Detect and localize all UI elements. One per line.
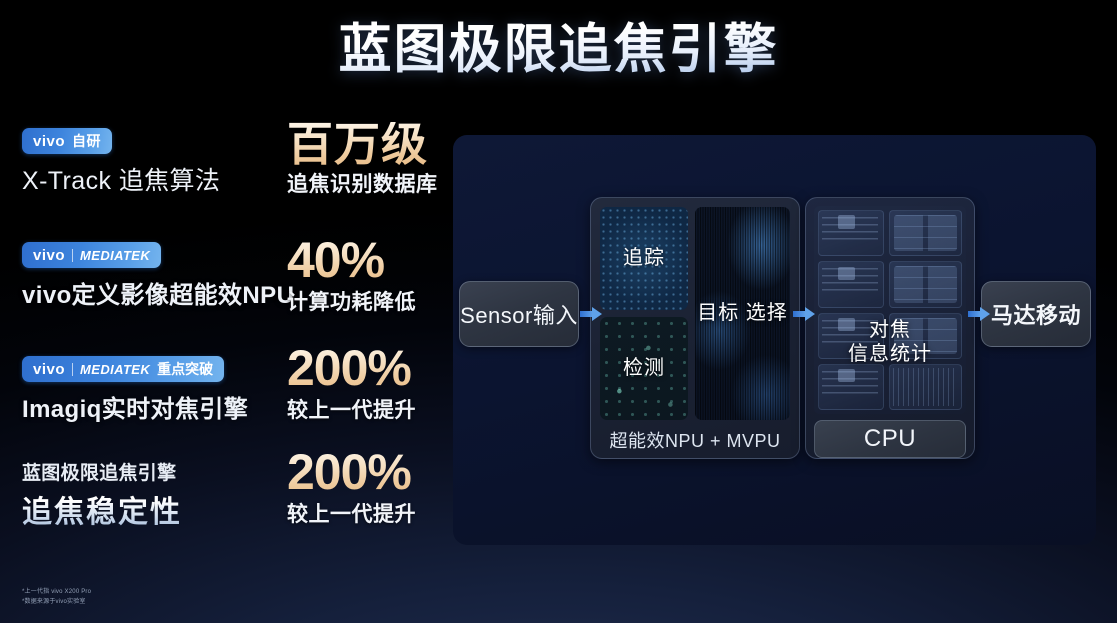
badge-vivo-mediatek-breakthrough: vivo MEDIATEK 重点突破 [22, 356, 224, 382]
stat-item-stability-gain: 200% 较上一代提升 [287, 448, 447, 528]
mediatek-wordmark: MEDIATEK [80, 362, 150, 377]
badge-separator-icon [72, 249, 73, 262]
arrow-head [805, 307, 815, 321]
stat-caption: 追焦识别数据库 [287, 168, 447, 198]
chip-block-npu: 追踪 检测 目标 选择 超能效NPU + MVPU [590, 197, 800, 459]
badge-vivo-mediatek: vivo MEDIATEK [22, 242, 161, 268]
die-bank [818, 261, 884, 307]
badge-separator-icon [72, 363, 73, 376]
feature-title: X-Track 追焦算法 [22, 161, 284, 197]
die-column-right [889, 210, 962, 410]
feature-item-npu: vivo MEDIATEK vivo定义影像超能效NPU [22, 242, 284, 310]
stat-item-power: 40% 计算功耗降低 [287, 236, 447, 316]
mediatek-wordmark: MEDIATEK [80, 248, 150, 263]
npu-tile-grid: 追踪 检测 目标 选择 [600, 207, 790, 420]
cpu-die-texture: 对焦 信息统计 [814, 206, 966, 414]
tile-target-selection: 目标 选择 [695, 207, 790, 420]
footnote: *上一代指 vivo X200 Pro *数据来源于vivo实验室 [22, 588, 91, 608]
feature-pretitle: 蓝图极限追焦引擎 [22, 458, 284, 485]
chip-block-cpu: 对焦 信息统计 CPU [805, 197, 975, 459]
chip-footer-label: CPU [814, 420, 966, 458]
stat-item-database: 百万级 追焦识别数据库 [287, 122, 447, 198]
badge-label-cn: 重点突破 [157, 359, 213, 379]
page-title: 蓝图极限追焦引擎 [0, 16, 1117, 84]
die-bank [818, 210, 884, 256]
stat-value: 百万级 [287, 122, 447, 167]
badge-label-cn: 自研 [72, 131, 101, 151]
stat-item-imagiq-gain: 200% 较上一代提升 [287, 344, 447, 424]
vivo-wordmark: vivo [33, 133, 65, 150]
die-column-left [818, 210, 884, 410]
tile-tracking: 追踪 [600, 207, 688, 310]
tile-label: 追踪 [623, 247, 665, 271]
chip-footer-label: 超能效NPU + MVPU [600, 420, 790, 460]
npu-left-column: 追踪 检测 [600, 207, 688, 420]
feature-item-stability: 蓝图极限追焦引擎 追焦稳定性 [22, 458, 284, 531]
badge-vivo-self-developed: vivo 自研 [22, 128, 112, 154]
stat-caption: 较上一代提升 [287, 394, 447, 424]
tile-label: 检测 [623, 357, 665, 381]
die-bank [889, 261, 962, 307]
arrow-cpu-to-motor-icon [968, 307, 990, 321]
die-bank [889, 210, 962, 256]
tile-detection: 检测 [600, 317, 688, 420]
arrow-head [980, 307, 990, 321]
arrow-npu-to-cpu-icon [793, 307, 815, 321]
pipeline-diagram-panel: Sensor输入 追踪 检测 目标 选择 [453, 135, 1096, 545]
feature-item-x-track: vivo 自研 X-Track 追焦算法 [22, 128, 284, 197]
die-bank [889, 364, 962, 410]
arrow-head [592, 307, 602, 321]
stat-caption: 计算功耗降低 [287, 286, 447, 316]
slide-canvas: 蓝图极限追焦引擎 vivo 自研 X-Track 追焦算法 vivo MEDIA… [0, 0, 1117, 623]
cpu-overlay-label: 对焦 信息统计 [814, 318, 966, 366]
pipeline-flow: Sensor输入 追踪 检测 目标 选择 [453, 135, 1096, 545]
node-motor-movement: 马达移动 [981, 281, 1091, 347]
arrow-sensor-to-npu-icon [580, 307, 602, 321]
feature-title: 追焦稳定性 [22, 487, 284, 531]
feature-title: vivo定义影像超能效NPU [22, 275, 284, 310]
vivo-wordmark: vivo [33, 247, 65, 264]
stat-caption: 较上一代提升 [287, 498, 447, 528]
tile-label: 目标 选择 [697, 302, 788, 326]
node-sensor-input: Sensor输入 [459, 281, 579, 347]
stat-value: 200% [287, 448, 447, 497]
feature-item-imagiq: vivo MEDIATEK 重点突破 Imagiq实时对焦引擎 [22, 356, 284, 424]
vivo-wordmark: vivo [33, 361, 65, 378]
stat-value: 40% [287, 236, 447, 285]
feature-title: Imagiq实时对焦引擎 [22, 389, 284, 424]
stat-value: 200% [287, 344, 447, 393]
footnote-line: *上一代指 vivo X200 Pro [22, 588, 91, 598]
die-bank [818, 364, 884, 410]
footnote-line: *数据来源于vivo实验室 [22, 598, 91, 608]
